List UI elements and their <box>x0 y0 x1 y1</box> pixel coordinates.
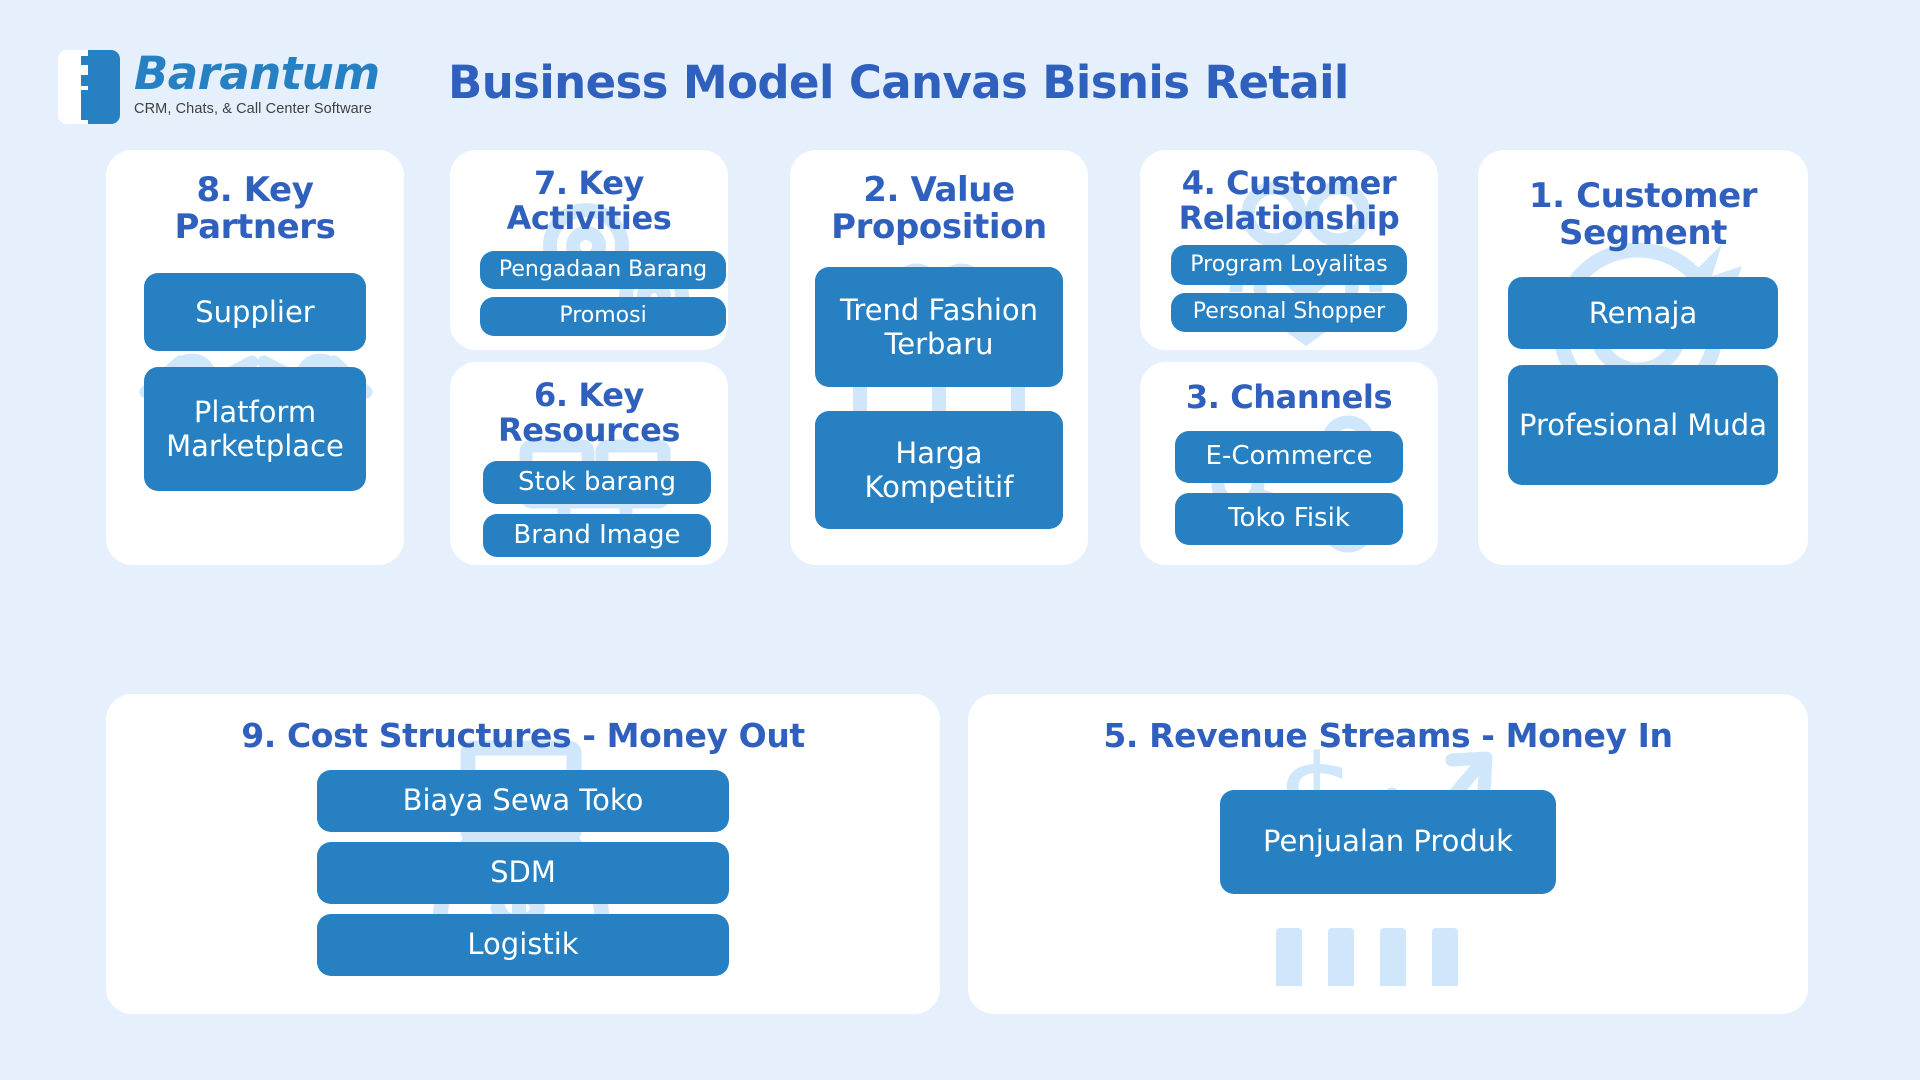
block-customer-relationship[interactable]: 4. Customer Relationship Program Loyalit… <box>1140 150 1438 350</box>
block-title-revenue-streams: 5. Revenue Streams - Money In <box>1103 718 1672 754</box>
pill-profesional-muda[interactable]: Profesional Muda <box>1508 365 1778 485</box>
page-header: Barantum CRM, Chats, & Call Center Softw… <box>0 0 1920 150</box>
block-title-key-resources: 6. Key Resources <box>498 378 680 447</box>
pill-harga-kompetitif[interactable]: Harga Kompetitif <box>815 411 1063 529</box>
pill-program-loyalitas[interactable]: Program Loyalitas <box>1171 245 1407 284</box>
pill-biaya-sewa-toko[interactable]: Biaya Sewa Toko <box>317 770 729 832</box>
pill-stok-barang[interactable]: Stok barang <box>483 461 711 504</box>
block-key-activities[interactable]: 7. Key Activities Pengadaan Barang Promo… <box>450 150 728 350</box>
business-model-canvas: 8. Key Partners Supplier Platform Market… <box>0 150 1920 1080</box>
pill-penjualan-produk[interactable]: Penjualan Produk <box>1220 790 1556 894</box>
barantum-b-logo-icon <box>58 50 120 124</box>
block-title-customer-relationship: 4. Customer Relationship <box>1179 166 1400 235</box>
pill-sdm[interactable]: SDM <box>317 842 729 904</box>
brand-tagline: CRM, Chats, & Call Center Software <box>134 100 380 118</box>
pill-toko-fisik[interactable]: Toko Fisik <box>1175 493 1403 545</box>
block-title-key-partners: 8. Key Partners <box>174 172 335 245</box>
block-key-partners[interactable]: 8. Key Partners Supplier Platform Market… <box>106 150 404 565</box>
block-channels[interactable]: 3. Channels E-Commerce Toko Fisik <box>1140 362 1438 565</box>
pill-personal-shopper[interactable]: Personal Shopper <box>1171 293 1407 332</box>
pill-brand-image[interactable]: Brand Image <box>483 514 711 557</box>
pill-remaja[interactable]: Remaja <box>1508 277 1778 349</box>
block-title-channels: 3. Channels <box>1186 380 1392 415</box>
block-title-cost-structures: 9. Cost Structures - Money Out <box>241 718 805 754</box>
pill-trend-fashion-terbaru[interactable]: Trend Fashion Terbaru <box>815 267 1063 387</box>
brand-name: Barantum <box>134 50 380 98</box>
block-cost-structures[interactable]: 9. Cost Structures - Money Out Biaya Sew… <box>106 694 940 1014</box>
pill-supplier[interactable]: Supplier <box>144 273 366 351</box>
pill-pengadaan-barang[interactable]: Pengadaan Barang <box>480 251 726 289</box>
block-value-proposition[interactable]: 2. Value Proposition Trend Fashion Terba… <box>790 150 1088 565</box>
page-title: Business Model Canvas Bisnis Retail <box>448 56 1349 109</box>
pill-platform-marketplace[interactable]: Platform Marketplace <box>144 367 366 491</box>
block-revenue-streams[interactable]: $ 5. Revenue Streams - Money In Penjuala… <box>968 694 1808 1014</box>
pill-promosi[interactable]: Promosi <box>480 297 726 335</box>
block-customer-segment[interactable]: 1. Customer Segment Remaja Profesional M… <box>1478 150 1808 565</box>
block-title-key-activities: 7. Key Activities <box>507 166 672 235</box>
block-title-customer-segment: 1. Customer Segment <box>1529 178 1757 251</box>
pill-logistik[interactable]: Logistik <box>317 914 729 976</box>
block-title-value-proposition: 2. Value Proposition <box>831 172 1047 245</box>
brand-logo[interactable]: Barantum CRM, Chats, & Call Center Softw… <box>58 50 380 124</box>
block-key-resources[interactable]: 6. Key Resources Stok barang Brand Image <box>450 362 728 565</box>
pill-e-commerce[interactable]: E-Commerce <box>1175 431 1403 483</box>
